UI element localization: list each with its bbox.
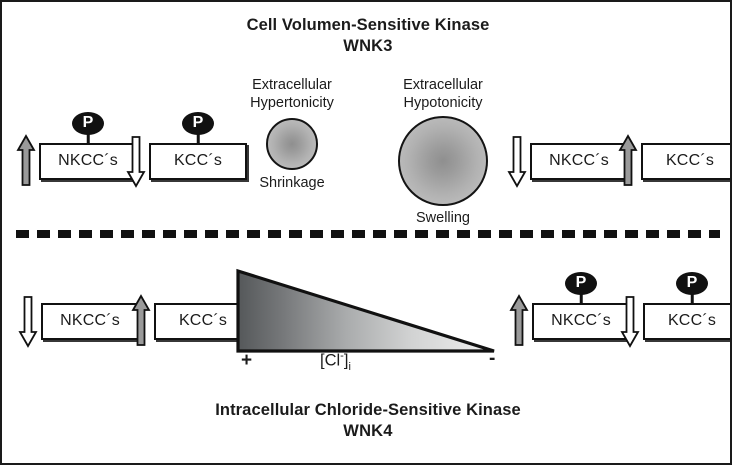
transporter-box-wrap: NKCC´s [530, 143, 628, 180]
bottom-title-line1: Intracellular Chloride-Sensitive Kinase [2, 400, 732, 421]
top-title: Cell Volumen-Sensitive Kinase WNK3 [2, 15, 732, 58]
cell-caption-line1: Extracellular [384, 76, 502, 94]
arrow-down-hollow-icon [126, 133, 146, 189]
phospho-label: P [565, 272, 597, 295]
transporter-box-wrap: P KCC´s [149, 143, 247, 180]
transporter-top-nkcc-down: NKCC´s [507, 133, 628, 189]
transporter-label: NKCC´s [39, 143, 137, 180]
cell-caption-line2: Hypertonicity [234, 94, 350, 112]
transporter-box-wrap: NKCC´s [41, 303, 139, 340]
chloride-charge: - [340, 350, 344, 362]
phospho-marker-icon: P [70, 112, 106, 145]
wnk-kinase-diagram: Cell Volumen-Sensitive Kinase WNK3 P NKC… [0, 0, 732, 465]
arrow-up-filled-icon [509, 293, 529, 349]
transporter-label: NKCC´s [532, 303, 630, 340]
cell-caption-bottom: Swelling [384, 210, 502, 226]
phospho-label: P [182, 112, 214, 135]
phospho-marker-icon: P [674, 272, 710, 305]
transporter-box-wrap: P NKCC´s [532, 303, 630, 340]
chloride-plus-sign: + [241, 350, 252, 372]
transporter-label: NKCC´s [41, 303, 139, 340]
cell-caption-top: Extracellular Hypertonicity [234, 76, 350, 112]
cell-circle-large-icon [398, 116, 488, 206]
cell-circle-small-icon [266, 118, 318, 170]
phospho-label: P [676, 272, 708, 295]
chloride-compartment: i [348, 361, 350, 373]
cell-caption-bottom: Shrinkage [234, 175, 350, 191]
chloride-gradient-triangle [235, 268, 497, 356]
transporter-label: KCC´s [643, 303, 732, 340]
panel-divider-dashed [16, 230, 720, 238]
top-title-line1: Cell Volumen-Sensitive Kinase [2, 15, 732, 36]
arrow-down-hollow-icon [620, 293, 640, 349]
transporter-box-wrap: P KCC´s [643, 303, 732, 340]
cell-hypotonicity: Extracellular Hypotonicity Swelling [384, 76, 502, 226]
transporter-box-wrap: P NKCC´s [39, 143, 137, 180]
arrow-down-hollow-icon [507, 133, 527, 189]
transporter-label: NKCC´s [530, 143, 628, 180]
transporter-bottom-nkcc-down: NKCC´s [18, 293, 139, 349]
arrow-up-filled-icon [131, 293, 151, 349]
phospho-label: P [72, 112, 104, 135]
chloride-minus-sign: - [489, 348, 495, 370]
bottom-title-line2: WNK4 [2, 421, 732, 442]
cell-caption-top: Extracellular Hypotonicity [384, 76, 502, 112]
bottom-title: Intracellular Chloride-Sensitive Kinase … [2, 400, 732, 443]
top-title-line2: WNK3 [2, 36, 732, 57]
cell-hypertonicity: Extracellular Hypertonicity Shrinkage [234, 76, 350, 191]
arrow-up-filled-icon [618, 133, 638, 189]
cell-caption-line2: Hypotonicity [384, 94, 502, 112]
transporter-label: KCC´s [641, 143, 732, 180]
arrow-down-hollow-icon [18, 293, 38, 349]
transporter-label: KCC´s [149, 143, 247, 180]
transporter-top-nkcc-up: P NKCC´s [16, 133, 137, 189]
transporter-bottom-nkcc-up: P NKCC´s [509, 293, 630, 349]
transporter-bottom-kcc-down: P KCC´s [620, 293, 732, 349]
phospho-marker-icon: P [180, 112, 216, 145]
arrow-up-filled-icon [16, 133, 36, 189]
transporter-top-kcc-up: KCC´s [618, 133, 732, 189]
transporter-bottom-kcc-up: KCC´s [131, 293, 252, 349]
transporter-box-wrap: KCC´s [641, 143, 732, 180]
transporter-top-kcc-down: P KCC´s [126, 133, 247, 189]
chloride-species: [Cl [320, 352, 340, 370]
phospho-marker-icon: P [563, 272, 599, 305]
cell-caption-line1: Extracellular [234, 76, 350, 94]
chloride-concentration-label: [Cl-]i [320, 350, 351, 373]
